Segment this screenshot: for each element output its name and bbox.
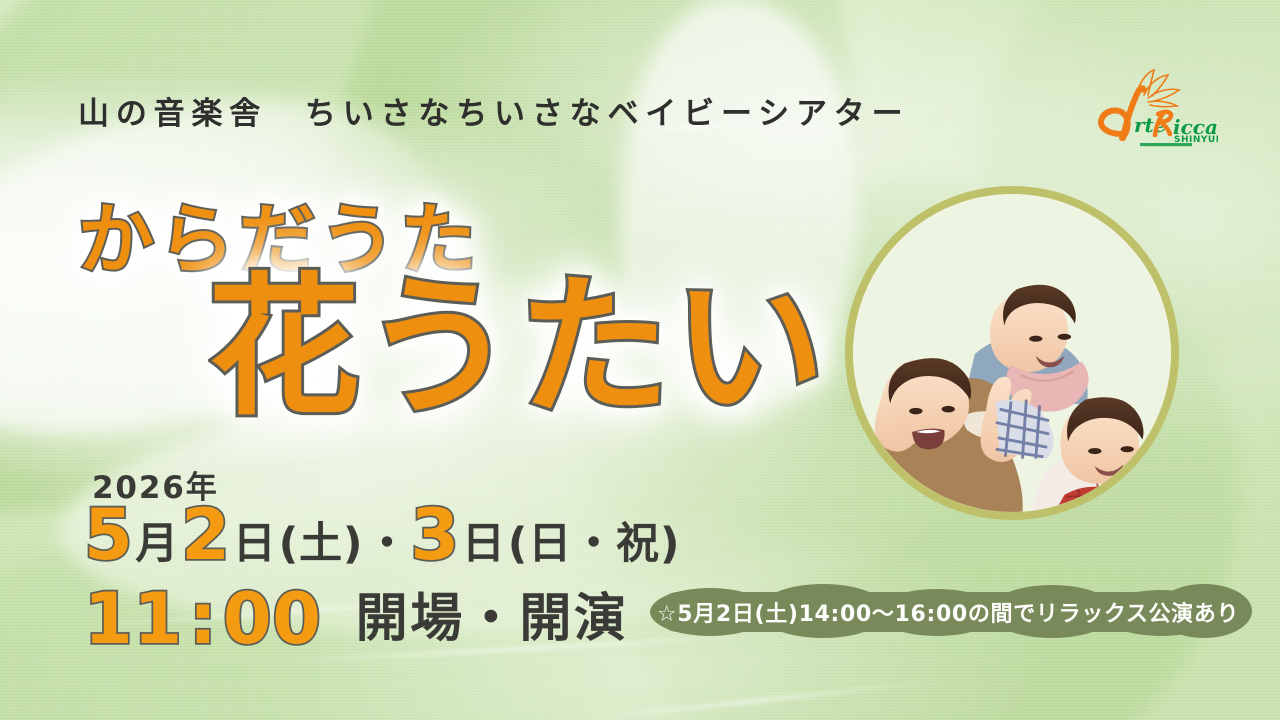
logo-fineprint-bar bbox=[1140, 143, 1192, 146]
title-main: 花うたい bbox=[208, 272, 828, 424]
event-day2-kanji: 日 bbox=[460, 523, 508, 570]
event-month-number: 5 bbox=[84, 500, 133, 570]
baby-photo bbox=[845, 186, 1179, 520]
relaxed-performance-notice: ☆5月2日(土)14:00〜16:00の間でリラックス公演あり bbox=[640, 582, 1256, 642]
event-date-line: 5 月 2 日 (土) ・ 3 日 (日・祝) bbox=[84, 500, 680, 570]
event-date-separator: ・ bbox=[363, 523, 410, 570]
event-time-colon: : bbox=[183, 584, 223, 654]
event-day1-number: 2 bbox=[181, 500, 230, 570]
arte-ricca-logo: rte icca SHINYURI bbox=[1078, 62, 1218, 148]
event-time-line: 11 : 00 開場・開演 bbox=[84, 584, 629, 654]
background-highlight-wisp bbox=[561, 680, 939, 720]
series-subtitle: 山の音楽舎 ちいさなちいさなベイビーシアター bbox=[78, 88, 958, 133]
notice-text: ☆5月2日(土)14:00〜16:00の間でリラックス公演あり bbox=[640, 582, 1256, 642]
event-day2-weekday: (日・祝) bbox=[508, 523, 681, 570]
event-day1-weekday: (土) bbox=[279, 523, 364, 570]
event-time-label: 開場・開演 bbox=[356, 593, 629, 645]
event-day2-number: 3 bbox=[410, 500, 459, 570]
poster-canvas: 山の音楽舎 ちいさなちいさなベイビーシアター rte icca SHINYURI… bbox=[0, 0, 1280, 720]
event-time-minute: 00 bbox=[223, 584, 322, 654]
event-day1-kanji: 日 bbox=[231, 523, 279, 570]
event-month-kanji: 月 bbox=[133, 523, 181, 570]
event-time-hour: 11 bbox=[84, 584, 183, 654]
